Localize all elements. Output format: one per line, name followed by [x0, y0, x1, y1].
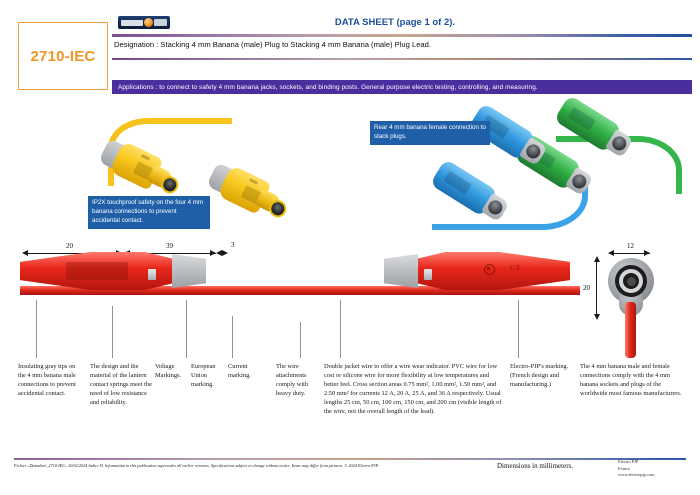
plug-gray-tip	[172, 254, 206, 288]
drawing-end-view	[608, 258, 654, 318]
header-rule-bottom	[112, 58, 692, 60]
logo-wordmark	[121, 20, 143, 26]
designation-text: Designation : Stacking 4 mm Banana (male…	[114, 40, 694, 49]
note-wire-attachments: The wire attachments comply with heavy d…	[276, 362, 316, 398]
dim-arrow-right	[644, 250, 650, 256]
plug-gray-tip	[384, 254, 418, 288]
datasheet-page: 2710-IEC DATA SHEET (page 1 of 2). Desig…	[0, 0, 700, 495]
dim-label-20: 20	[66, 242, 73, 250]
plug-slot	[249, 178, 258, 185]
plug-body: CE	[410, 252, 570, 290]
dim-label-12: 12	[627, 242, 634, 250]
footer-website[interactable]: www.electropjp.com	[618, 472, 698, 479]
footer-company-name: Electro PJP	[618, 459, 698, 466]
notes-row: Insulating gray tips on the 4 mm banana …	[0, 358, 700, 454]
end-view-wire	[625, 302, 636, 358]
yellow-plug-right	[204, 157, 291, 225]
logo-right-block	[154, 19, 167, 26]
stacking-symbol-icon	[484, 264, 495, 275]
dim-arrow-up	[594, 256, 600, 262]
dim-label-3: 3	[231, 241, 235, 249]
leader-line-7	[518, 300, 519, 358]
note-compatibility: The 4 mm banana male and female connecti…	[580, 362, 688, 398]
note-lantern-contact: The design and the material of the lante…	[90, 362, 152, 407]
leader-line-4	[232, 316, 233, 358]
product-reference: 2710-IEC	[31, 48, 96, 65]
electro-pjp-logo-icon	[118, 16, 170, 29]
note-electro-pjp-marking: Electro-PJP's marking. (French design an…	[510, 362, 574, 389]
dim-arrow-down	[594, 314, 600, 320]
note-double-jacket-wire: Double jacket wire to offer a wire wear …	[324, 362, 504, 417]
dim-line-height	[596, 260, 597, 316]
drawing-plug-right: CE	[382, 252, 582, 304]
plug-tab	[148, 269, 156, 280]
dim-arrow-right-3	[222, 250, 228, 256]
end-view-center	[627, 277, 636, 286]
applications-text: Applications : to connect to safety 4 mm…	[112, 84, 538, 91]
applications-bar: Applications : to connect to safety 4 mm…	[112, 80, 692, 94]
leader-line-1	[36, 300, 37, 358]
leader-line-3	[186, 300, 187, 358]
ce-mark-icon: CE	[510, 263, 522, 272]
plug-marking	[443, 171, 471, 195]
dim-label-39: 39	[166, 242, 173, 250]
note-insulating-tips: Insulating gray tips on the 4 mm banana …	[18, 362, 84, 398]
dim-label-height-20: 20	[583, 284, 590, 292]
plug-slot	[141, 154, 150, 161]
drawing-plug-left	[20, 252, 220, 304]
product-reference-box: 2710-IEC	[18, 22, 108, 90]
note-current-marking: Current marking.	[228, 362, 264, 380]
callout-ip2x-safety: IP2X touchproof safety on the four 4 mm …	[88, 196, 210, 229]
footer-company-block: Electro PJP France www.electropjp.com	[618, 459, 698, 479]
leader-line-2	[112, 306, 113, 358]
leader-line-5	[300, 322, 301, 358]
note-voltage-markings: Voltage Markings.	[155, 362, 187, 380]
dim-arrow-left	[608, 250, 614, 256]
header-rule-top	[112, 34, 692, 37]
footer-rule	[14, 458, 686, 460]
sheet-title: DATA SHEET (page 1 of 2).	[245, 17, 545, 28]
logo-orb	[144, 18, 153, 27]
note-eu-marking: European Union marking.	[191, 362, 225, 389]
footer-country: France	[618, 466, 698, 473]
plug-tab	[424, 269, 432, 280]
plug-marking	[567, 107, 595, 131]
leader-line-6	[340, 300, 341, 358]
footer-dimensions-note: Dimensions in millimeters.	[455, 462, 615, 470]
plug-marking-voltage	[66, 262, 128, 280]
callout-rear-connection: Rear 4 mm banana female connection to st…	[370, 121, 490, 145]
